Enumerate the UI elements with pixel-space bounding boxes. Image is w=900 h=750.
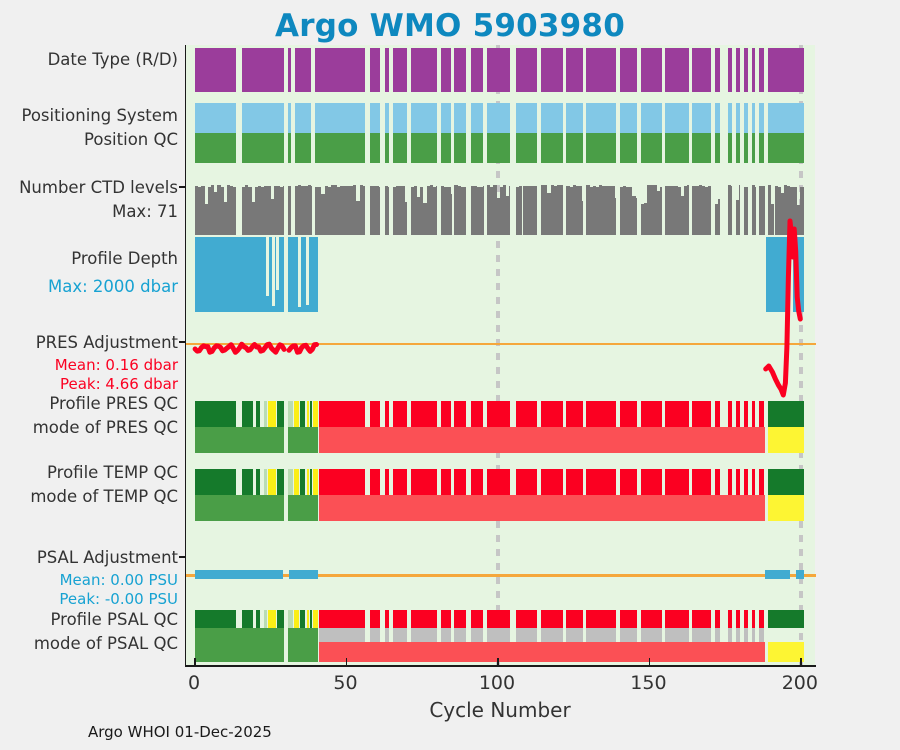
band-ctd-levels: [186, 185, 816, 235]
positioning-system-segment: [471, 103, 484, 133]
positioning-system-segment: [541, 103, 563, 133]
date-type-segment: [195, 48, 236, 92]
profile-temp-qc-segment: [264, 469, 268, 495]
profile-temp-qc-segment: [471, 469, 484, 495]
date-type-segment: [715, 48, 720, 92]
profile-temp-qc-segment: [487, 469, 510, 495]
position-qc-segment: [728, 133, 732, 163]
profile-pres-qc-segment: [566, 401, 582, 427]
positioning-system-segment: [516, 103, 537, 133]
profile-depth-bar: [766, 237, 789, 312]
profile-depth-dip: [266, 237, 269, 296]
profile-psal-qc-segment: [370, 610, 380, 628]
ctd-levels-bar: [388, 187, 389, 235]
positioning-system-segment: [315, 103, 365, 133]
position-qc-segment: [195, 133, 236, 163]
psal-qc-changed-band: [715, 628, 720, 642]
profile-psal-qc-segment: [752, 610, 756, 628]
x-tick-150: [649, 658, 651, 665]
position-qc-segment: [411, 133, 438, 163]
profile-pres-qc-segment: [768, 401, 804, 427]
profile-depth-bar: [288, 237, 318, 312]
mode-temp-qc-segment: [319, 495, 764, 521]
row-label-profile-depth: Profile Depth: [0, 249, 178, 268]
date-type-segment: [370, 48, 380, 92]
profile-pres-qc-segment: [454, 401, 466, 427]
psal-qc-changed-band: [516, 628, 537, 642]
date-type-segment: [744, 48, 748, 92]
psal-qc-changed-band: [744, 628, 748, 642]
date-type-segment: [620, 48, 638, 92]
positioning-system-segment: [195, 103, 236, 133]
x-tick-label-200: 200: [782, 672, 818, 694]
positioning-system-segment: [620, 103, 638, 133]
profile-psal-qc-segment: [277, 610, 285, 628]
psal-adjustment-trace: [289, 570, 318, 579]
positioning-system-segment: [641, 103, 662, 133]
row-label-mode-psal-qc: mode of PSAL QC: [0, 634, 178, 653]
x-tick-label-50: 50: [333, 672, 357, 694]
profile-psal-qc-segment: [728, 610, 732, 628]
position-qc-segment: [516, 133, 537, 163]
row-label-profile-pres-qc: Profile PRES QC: [0, 394, 178, 413]
positioning-system-segment: [487, 103, 510, 133]
date-type-segment: [728, 48, 732, 92]
positioning-system-segment: [385, 103, 389, 133]
row-label-mode-temp-qc: mode of TEMP QC: [0, 487, 178, 506]
ctd-levels-bar: [731, 186, 732, 235]
profile-psal-qc-segment: [620, 610, 638, 628]
ctd-levels-bar: [718, 199, 720, 235]
profile-temp-qc-segment: [744, 469, 748, 495]
positioning-system-segment: [454, 103, 466, 133]
psal-qc-changed-band: [566, 628, 582, 642]
x-axis-title: Cycle Number: [185, 698, 815, 722]
profile-temp-qc-segment: [454, 469, 466, 495]
band-pres-qc: [186, 401, 816, 453]
x-tick-label-150: 150: [630, 672, 666, 694]
band-positioning: [186, 103, 816, 163]
band-psal-adjustment: [186, 537, 816, 613]
position-qc-segment: [752, 133, 756, 163]
profile-pres-qc-segment: [641, 401, 662, 427]
profile-temp-qc-segment: [385, 469, 389, 495]
plot-area: [185, 45, 815, 665]
positioning-system-segment: [715, 103, 720, 133]
ctd-levels-bar: [708, 186, 710, 235]
psal-qc-changed-band: [641, 628, 662, 642]
position-qc-segment: [295, 133, 311, 163]
profile-pres-qc-segment: [319, 401, 364, 427]
profile-psal-qc-segment: [242, 610, 253, 628]
position-qc-segment: [736, 133, 740, 163]
profile-pres-qc-segment: [487, 401, 510, 427]
date-type-segment: [752, 48, 756, 92]
date-type-segment: [487, 48, 510, 92]
date-type-segment: [692, 48, 710, 92]
band-temp-qc: [186, 469, 816, 521]
profile-psal-qc-segment: [307, 610, 309, 628]
profile-temp-qc-segment: [268, 469, 275, 495]
psal-qc-changed-band: [692, 628, 710, 642]
profile-psal-qc-segment: [541, 610, 563, 628]
date-type-segment: [288, 48, 291, 92]
profile-pres-qc-segment: [242, 401, 253, 427]
profile-depth-bar: [195, 237, 284, 312]
profile-temp-qc-segment: [441, 469, 451, 495]
positioning-system-segment: [295, 103, 311, 133]
positioning-system-segment: [242, 103, 284, 133]
psal-qc-changed-band: [393, 628, 408, 642]
profile-pres-qc-segment: [310, 401, 312, 427]
mode-psal-qc-segment: [195, 628, 284, 662]
psal-qc-changed-band: [665, 628, 689, 642]
ctd-levels-bar: [288, 186, 291, 235]
position-qc-segment: [692, 133, 710, 163]
profile-temp-qc-segment: [715, 469, 720, 495]
profile-pres-qc-segment: [268, 401, 275, 427]
date-type-segment: [641, 48, 662, 92]
positioning-system-segment: [692, 103, 710, 133]
profile-temp-qc-segment: [370, 469, 380, 495]
profile-psal-qc-segment: [586, 610, 616, 628]
pres-adjustment-trace: [186, 317, 816, 399]
profile-pres-qc-segment: [264, 401, 268, 427]
profile-temp-qc-segment: [752, 469, 756, 495]
ctd-levels-bar: [739, 185, 740, 235]
positioning-system-segment: [759, 103, 764, 133]
profile-temp-qc-segment: [586, 469, 616, 495]
profile-pres-qc-segment: [736, 401, 740, 427]
row-label-depth-max: Max: 2000 dbar: [0, 277, 178, 296]
profile-pres-qc-segment: [300, 401, 305, 427]
date-type-segment: [586, 48, 616, 92]
profile-temp-qc-segment: [195, 469, 236, 495]
profile-pres-qc-segment: [195, 401, 236, 427]
profile-temp-qc-segment: [768, 469, 804, 495]
profile-psal-qc-segment: [744, 610, 748, 628]
ctd-levels-bar: [755, 187, 756, 235]
profile-psal-qc-segment: [411, 610, 438, 628]
position-qc-segment: [665, 133, 689, 163]
profile-temp-qc-segment: [307, 469, 309, 495]
profile-psal-qc-segment: [715, 610, 720, 628]
profile-temp-qc-segment: [736, 469, 740, 495]
profile-temp-qc-segment: [300, 469, 305, 495]
psal-qc-changed-band: [586, 628, 616, 642]
profile-depth-dip: [306, 237, 309, 305]
positioning-system-segment: [288, 103, 291, 133]
date-type-segment: [441, 48, 451, 92]
profile-depth-dip: [276, 237, 279, 290]
mode-pres-qc-segment: [768, 427, 804, 453]
profile-pres-qc-segment: [692, 401, 710, 427]
page-title: Argo WMO 5903980: [0, 8, 900, 44]
position-qc-segment: [715, 133, 720, 163]
position-qc-segment: [541, 133, 563, 163]
date-type-segment: [393, 48, 408, 92]
band-date-type: [186, 48, 816, 92]
ctd-levels-bar: [636, 198, 638, 235]
psal-qc-changed-band: [370, 628, 380, 642]
positioning-system-segment: [566, 103, 582, 133]
x-tick-200: [800, 658, 802, 665]
profile-temp-qc-segment: [256, 469, 260, 495]
profile-pres-qc-segment: [277, 401, 285, 427]
ctd-levels-bar: [451, 194, 452, 235]
positioning-system-segment: [665, 103, 689, 133]
position-qc-segment: [471, 133, 484, 163]
profile-temp-qc-segment: [242, 469, 253, 495]
date-type-segment: [295, 48, 311, 92]
psal-qc-changed-band: [487, 628, 510, 642]
positioning-system-segment: [393, 103, 408, 133]
profile-psal-qc-segment: [768, 610, 804, 628]
profile-pres-qc-segment: [256, 401, 260, 427]
profile-pres-qc-segment: [620, 401, 638, 427]
row-label-psal-peak: Peak: -0.00 PSU: [0, 591, 178, 609]
profile-pres-qc-segment: [294, 401, 299, 427]
profile-psal-qc-segment: [736, 610, 740, 628]
row-label-pres-mean: Mean: 0.16 dbar: [0, 357, 178, 375]
profile-pres-qc-segment: [759, 401, 764, 427]
ctd-levels-bar: [464, 187, 467, 235]
ctd-levels-bar: [363, 186, 365, 235]
profile-temp-qc-segment: [728, 469, 732, 495]
ctd-levels-bar: [233, 187, 236, 235]
ctd-levels-bar: [560, 185, 563, 235]
positioning-system-segment: [744, 103, 748, 133]
ctd-levels-bar: [509, 186, 510, 235]
psal-qc-changed-band: [441, 628, 451, 642]
psal-qc-changed-band: [411, 628, 438, 642]
date-type-segment: [454, 48, 466, 92]
row-label-ctd-max: Max: 71: [0, 202, 178, 221]
psal-qc-changed-band: [620, 628, 638, 642]
profile-temp-qc-segment: [566, 469, 582, 495]
ctd-levels-bar: [803, 187, 804, 235]
date-type-segment: [736, 48, 740, 92]
position-qc-segment: [454, 133, 466, 163]
x-tick-0: [194, 658, 196, 665]
mode-temp-qc-segment: [195, 495, 284, 521]
position-qc-segment: [620, 133, 638, 163]
x-tick-50: [346, 658, 348, 665]
ctd-levels-bar: [687, 185, 688, 235]
profile-temp-qc-segment: [310, 469, 312, 495]
psal-qc-changed-band: [728, 628, 732, 642]
profile-depth-dip: [298, 237, 301, 307]
date-type-segment: [516, 48, 537, 92]
ctd-levels-bar: [483, 186, 484, 235]
ctd-levels-bar: [582, 201, 583, 235]
profile-temp-qc-segment: [665, 469, 689, 495]
profile-psal-qc-segment: [288, 610, 293, 628]
profile-pres-qc-segment: [370, 401, 380, 427]
mode-temp-qc-segment: [768, 495, 804, 521]
band-psal-qc: [186, 610, 816, 662]
date-type-segment: [242, 48, 284, 92]
psal-qc-changed-band: [752, 628, 756, 642]
ctd-levels-bar: [283, 186, 284, 235]
positioning-system-segment: [728, 103, 732, 133]
profile-temp-qc-segment: [516, 469, 537, 495]
row-label-position-qc: Position QC: [0, 130, 178, 149]
position-qc-segment: [315, 133, 365, 163]
row-label-psal-adjustment: PSAL Adjustment: [0, 548, 178, 567]
position-qc-segment: [288, 133, 291, 163]
psal-adjustment-trace: [796, 570, 804, 579]
positioning-system-segment: [586, 103, 616, 133]
mode-psal-qc-segment: [768, 642, 804, 662]
mode-psal-qc-segment: [288, 628, 318, 662]
row-label-ctd-levels: Number CTD levels: [0, 178, 178, 197]
profile-pres-qc-segment: [307, 401, 309, 427]
profile-temp-qc-segment: [294, 469, 299, 495]
mode-pres-qc-segment: [319, 427, 764, 453]
psal-qc-changed-band: [759, 628, 764, 642]
profile-pres-qc-segment: [715, 401, 720, 427]
ctd-levels-bar: [436, 186, 437, 235]
profile-pres-qc-segment: [385, 401, 389, 427]
position-qc-segment: [744, 133, 748, 163]
date-type-segment: [768, 48, 804, 92]
mode-temp-qc-segment: [288, 495, 318, 521]
profile-psal-qc-segment: [393, 610, 408, 628]
profile-psal-qc-segment: [454, 610, 466, 628]
row-label-profile-temp-qc: Profile TEMP QC: [0, 463, 178, 482]
psal-adjustment-trace: [765, 570, 791, 579]
profile-pres-qc-segment: [586, 401, 616, 427]
psal-qc-changed-band: [736, 628, 740, 642]
profile-psal-qc-segment: [268, 610, 275, 628]
profile-temp-qc-segment: [541, 469, 563, 495]
position-qc-segment: [641, 133, 662, 163]
profile-psal-qc-segment: [385, 610, 389, 628]
ctd-levels-bar: [762, 186, 764, 235]
profile-pres-qc-segment: [393, 401, 408, 427]
mode-psal-qc-segment: [319, 642, 764, 662]
profile-pres-qc-segment: [665, 401, 689, 427]
date-type-segment: [385, 48, 389, 92]
psal-qc-changed-band: [454, 628, 466, 642]
psal-qc-changed-band: [541, 628, 563, 642]
profile-pres-qc-segment: [541, 401, 563, 427]
row-label-pres-peak: Peak: 4.66 dbar: [0, 376, 178, 394]
ctd-levels-bar: [535, 186, 537, 235]
ctd-levels-bar: [379, 187, 380, 235]
position-qc-segment: [566, 133, 582, 163]
profile-psal-qc-segment: [692, 610, 710, 628]
profile-temp-qc-segment: [313, 469, 318, 495]
profile-temp-qc-segment: [319, 469, 364, 495]
row-label-date-type: Date Type (R/D): [0, 50, 178, 69]
position-qc-segment: [586, 133, 616, 163]
mode-pres-qc-segment: [195, 427, 284, 453]
psal-qc-changed-band: [319, 628, 364, 642]
row-label-psal-mean: Mean: 0.00 PSU: [0, 572, 178, 590]
x-axis-line: [185, 665, 817, 667]
ctd-levels-bar: [660, 187, 662, 235]
figure-root: Argo WMO 5903980 Date Type (R/D) Positio…: [0, 0, 900, 750]
profile-temp-qc-segment: [277, 469, 285, 495]
profile-psal-qc-segment: [516, 610, 537, 628]
x-tick-label-0: 0: [188, 672, 200, 694]
profile-psal-qc-segment: [195, 610, 236, 628]
profile-pres-qc-segment: [288, 401, 293, 427]
profile-psal-qc-segment: [313, 610, 318, 628]
position-qc-segment: [385, 133, 389, 163]
profile-psal-qc-segment: [665, 610, 689, 628]
profile-pres-qc-segment: [471, 401, 484, 427]
profile-psal-qc-segment: [487, 610, 510, 628]
profile-temp-qc-segment: [692, 469, 710, 495]
profile-temp-qc-segment: [759, 469, 764, 495]
positioning-system-segment: [370, 103, 380, 133]
profile-psal-qc-segment: [566, 610, 582, 628]
profile-temp-qc-segment: [288, 469, 293, 495]
profile-psal-qc-segment: [441, 610, 451, 628]
profile-temp-qc-segment: [393, 469, 408, 495]
footer-credit: Argo WHOI 01-Dec-2025: [88, 723, 272, 741]
profile-psal-qc-segment: [294, 610, 299, 628]
profile-pres-qc-segment: [313, 401, 318, 427]
date-type-segment: [315, 48, 365, 92]
x-tick-label-100: 100: [479, 672, 515, 694]
date-type-segment: [411, 48, 438, 92]
profile-temp-qc-segment: [641, 469, 662, 495]
date-type-segment: [566, 48, 582, 92]
positioning-system-segment: [752, 103, 756, 133]
band-pres-adjustment: [186, 317, 816, 399]
position-qc-segment: [759, 133, 764, 163]
position-qc-segment: [441, 133, 451, 163]
profile-depth-dip: [272, 237, 275, 306]
positioning-system-segment: [441, 103, 451, 133]
profile-psal-qc-segment: [319, 610, 364, 628]
profile-psal-qc-segment: [310, 610, 312, 628]
profile-pres-qc-segment: [744, 401, 748, 427]
date-type-segment: [541, 48, 563, 92]
profile-temp-qc-segment: [620, 469, 638, 495]
profile-psal-qc-segment: [256, 610, 260, 628]
positioning-system-segment: [411, 103, 438, 133]
row-label-mode-pres-qc: mode of PRES QC: [0, 418, 178, 437]
row-label-pres-adjustment: PRES Adjustment: [0, 333, 178, 352]
position-qc-segment: [487, 133, 510, 163]
mode-pres-qc-segment: [288, 427, 318, 453]
ctd-levels-bar: [615, 198, 616, 235]
date-type-segment: [759, 48, 764, 92]
date-type-segment: [665, 48, 689, 92]
positioning-system-segment: [736, 103, 740, 133]
profile-pres-qc-segment: [752, 401, 756, 427]
profile-psal-qc-segment: [759, 610, 764, 628]
profile-psal-qc-segment: [471, 610, 484, 628]
ctd-levels-bar: [747, 187, 748, 235]
position-qc-segment: [242, 133, 284, 163]
profile-pres-qc-segment: [441, 401, 451, 427]
profile-temp-qc-segment: [411, 469, 438, 495]
psal-qc-changed-band: [471, 628, 484, 642]
profile-pres-qc-segment: [728, 401, 732, 427]
date-type-segment: [471, 48, 484, 92]
row-label-profile-psal-qc: Profile PSAL QC: [0, 610, 178, 629]
ctd-levels-bar: [311, 186, 312, 235]
band-profile-depth: [186, 237, 816, 312]
positioning-system-segment: [768, 103, 804, 133]
psal-qc-changed-band: [385, 628, 389, 642]
